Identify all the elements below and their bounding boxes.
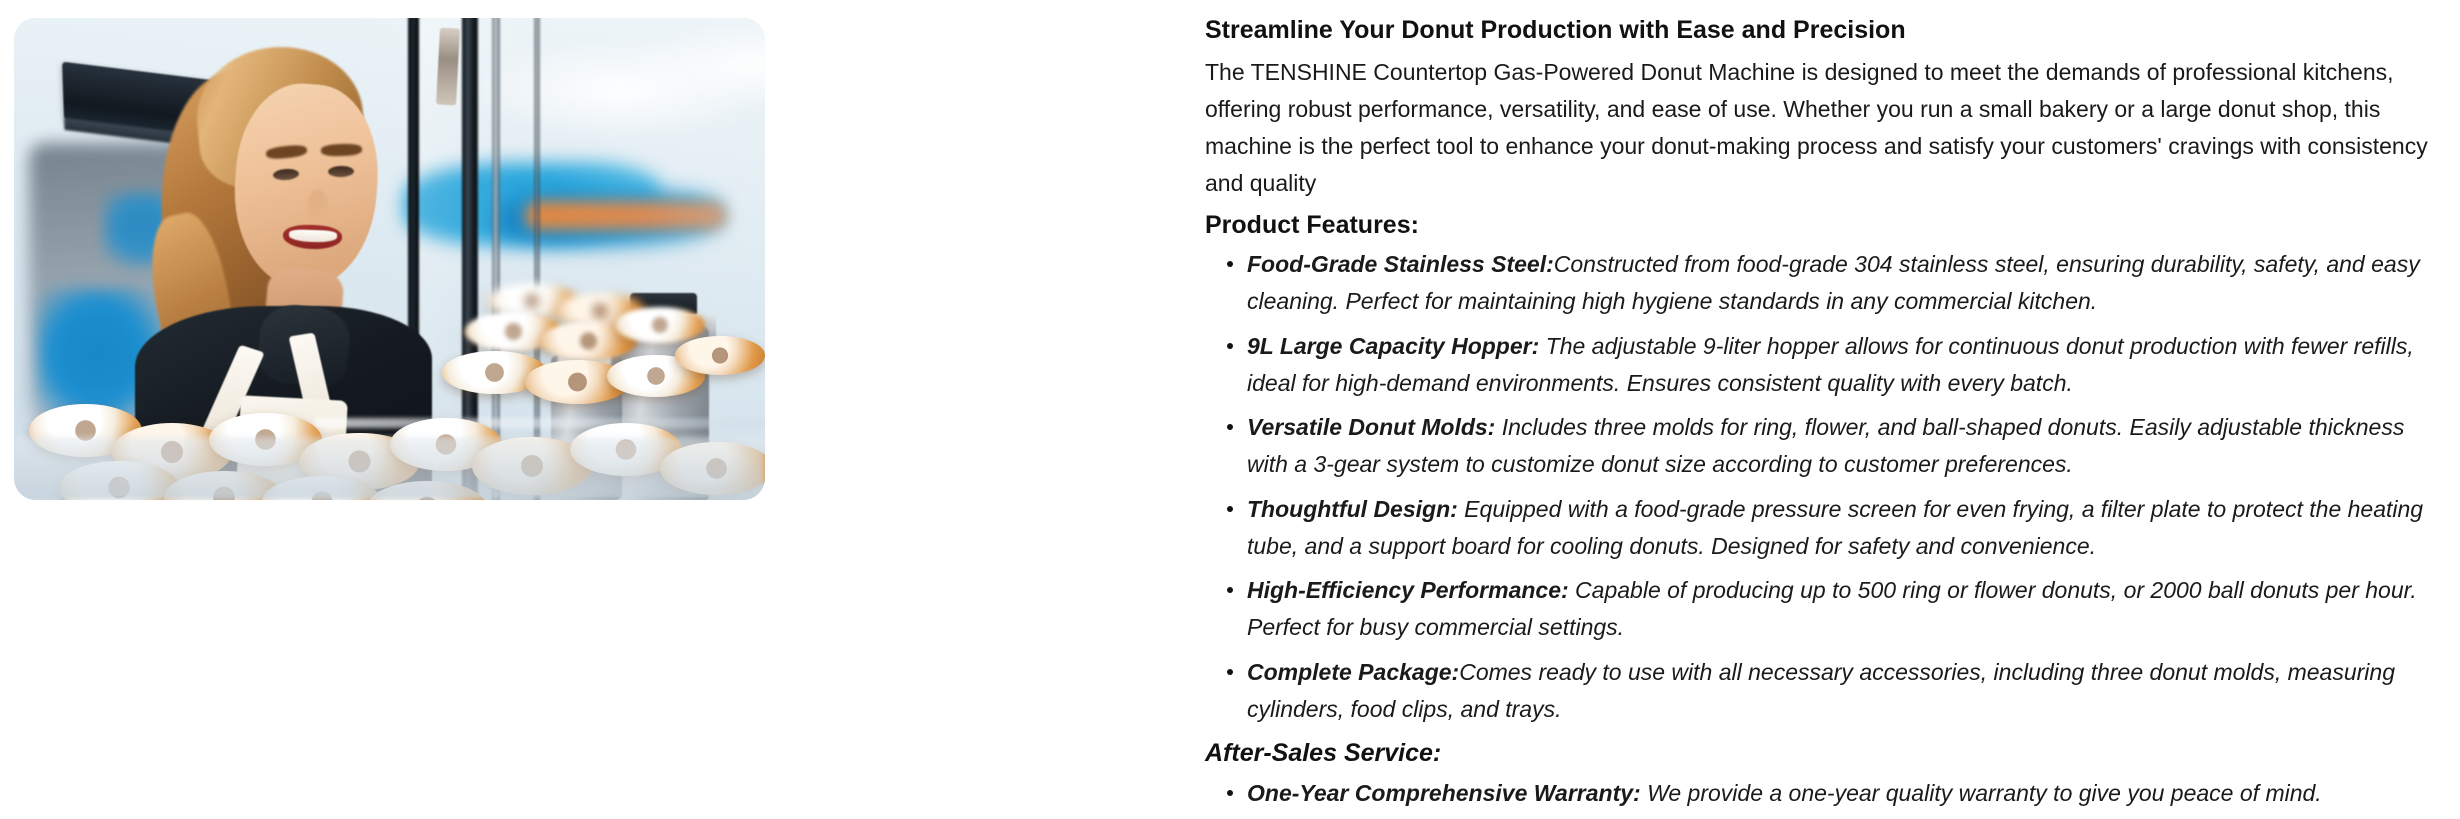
after-sales-service-heading: After-Sales Service: xyxy=(1205,735,2438,773)
product-description-page: Streamline Your Donut Production with Ea… xyxy=(0,0,2460,808)
display-shelf-glass xyxy=(314,418,765,428)
intro-paragraph: The TENSHINE Countertop Gas-Powered Donu… xyxy=(1205,54,2438,203)
background-orange-building xyxy=(525,201,728,230)
service-label: One-Year Comprehensive Warranty: xyxy=(1247,780,1641,806)
lead-title: Streamline Your Donut Production with Ea… xyxy=(1205,12,2438,50)
donut xyxy=(675,336,765,375)
list-item: 9L Large Capacity Hopper: The adjustable… xyxy=(1247,328,2438,403)
donut xyxy=(615,307,705,343)
list-item: Complete Package:Comes ready to use with… xyxy=(1247,654,2438,729)
product-features-list: Food-Grade Stainless Steel:Constructed f… xyxy=(1205,246,2438,728)
nose xyxy=(307,190,328,222)
list-item: Thoughtful Design: Equipped with a food-… xyxy=(1247,491,2438,566)
after-sales-service-list: One-Year Comprehensive Warranty: We prov… xyxy=(1205,775,2438,812)
product-features-heading: Product Features: xyxy=(1205,207,2438,245)
feature-label: Food-Grade Stainless Steel: xyxy=(1247,251,1554,277)
product-image-column xyxy=(0,0,1205,500)
feature-label: Versatile Donut Molds: xyxy=(1247,414,1495,440)
list-item: Versatile Donut Molds: Includes three mo… xyxy=(1247,409,2438,484)
photo-scene xyxy=(14,18,765,500)
window-frame-bar-3 xyxy=(492,18,500,500)
list-item: High-Efficiency Performance: Capable of … xyxy=(1247,572,2438,647)
list-item: One-Year Comprehensive Warranty: We prov… xyxy=(1247,775,2438,812)
feature-label: Thoughtful Design: xyxy=(1247,496,1458,522)
feature-label: Complete Package: xyxy=(1247,659,1459,685)
feature-label: 9L Large Capacity Hopper: xyxy=(1247,333,1539,359)
window-frame-bar-4 xyxy=(534,18,540,500)
list-item: Food-Grade Stainless Steel:Constructed f… xyxy=(1247,246,2438,321)
feature-label: High-Efficiency Performance: xyxy=(1247,577,1569,603)
product-photo xyxy=(14,18,765,500)
counter-surface xyxy=(14,437,765,500)
service-text: We provide a one-year quality warranty t… xyxy=(1641,780,2322,806)
product-copy-column: Streamline Your Donut Production with Ea… xyxy=(1205,0,2450,819)
